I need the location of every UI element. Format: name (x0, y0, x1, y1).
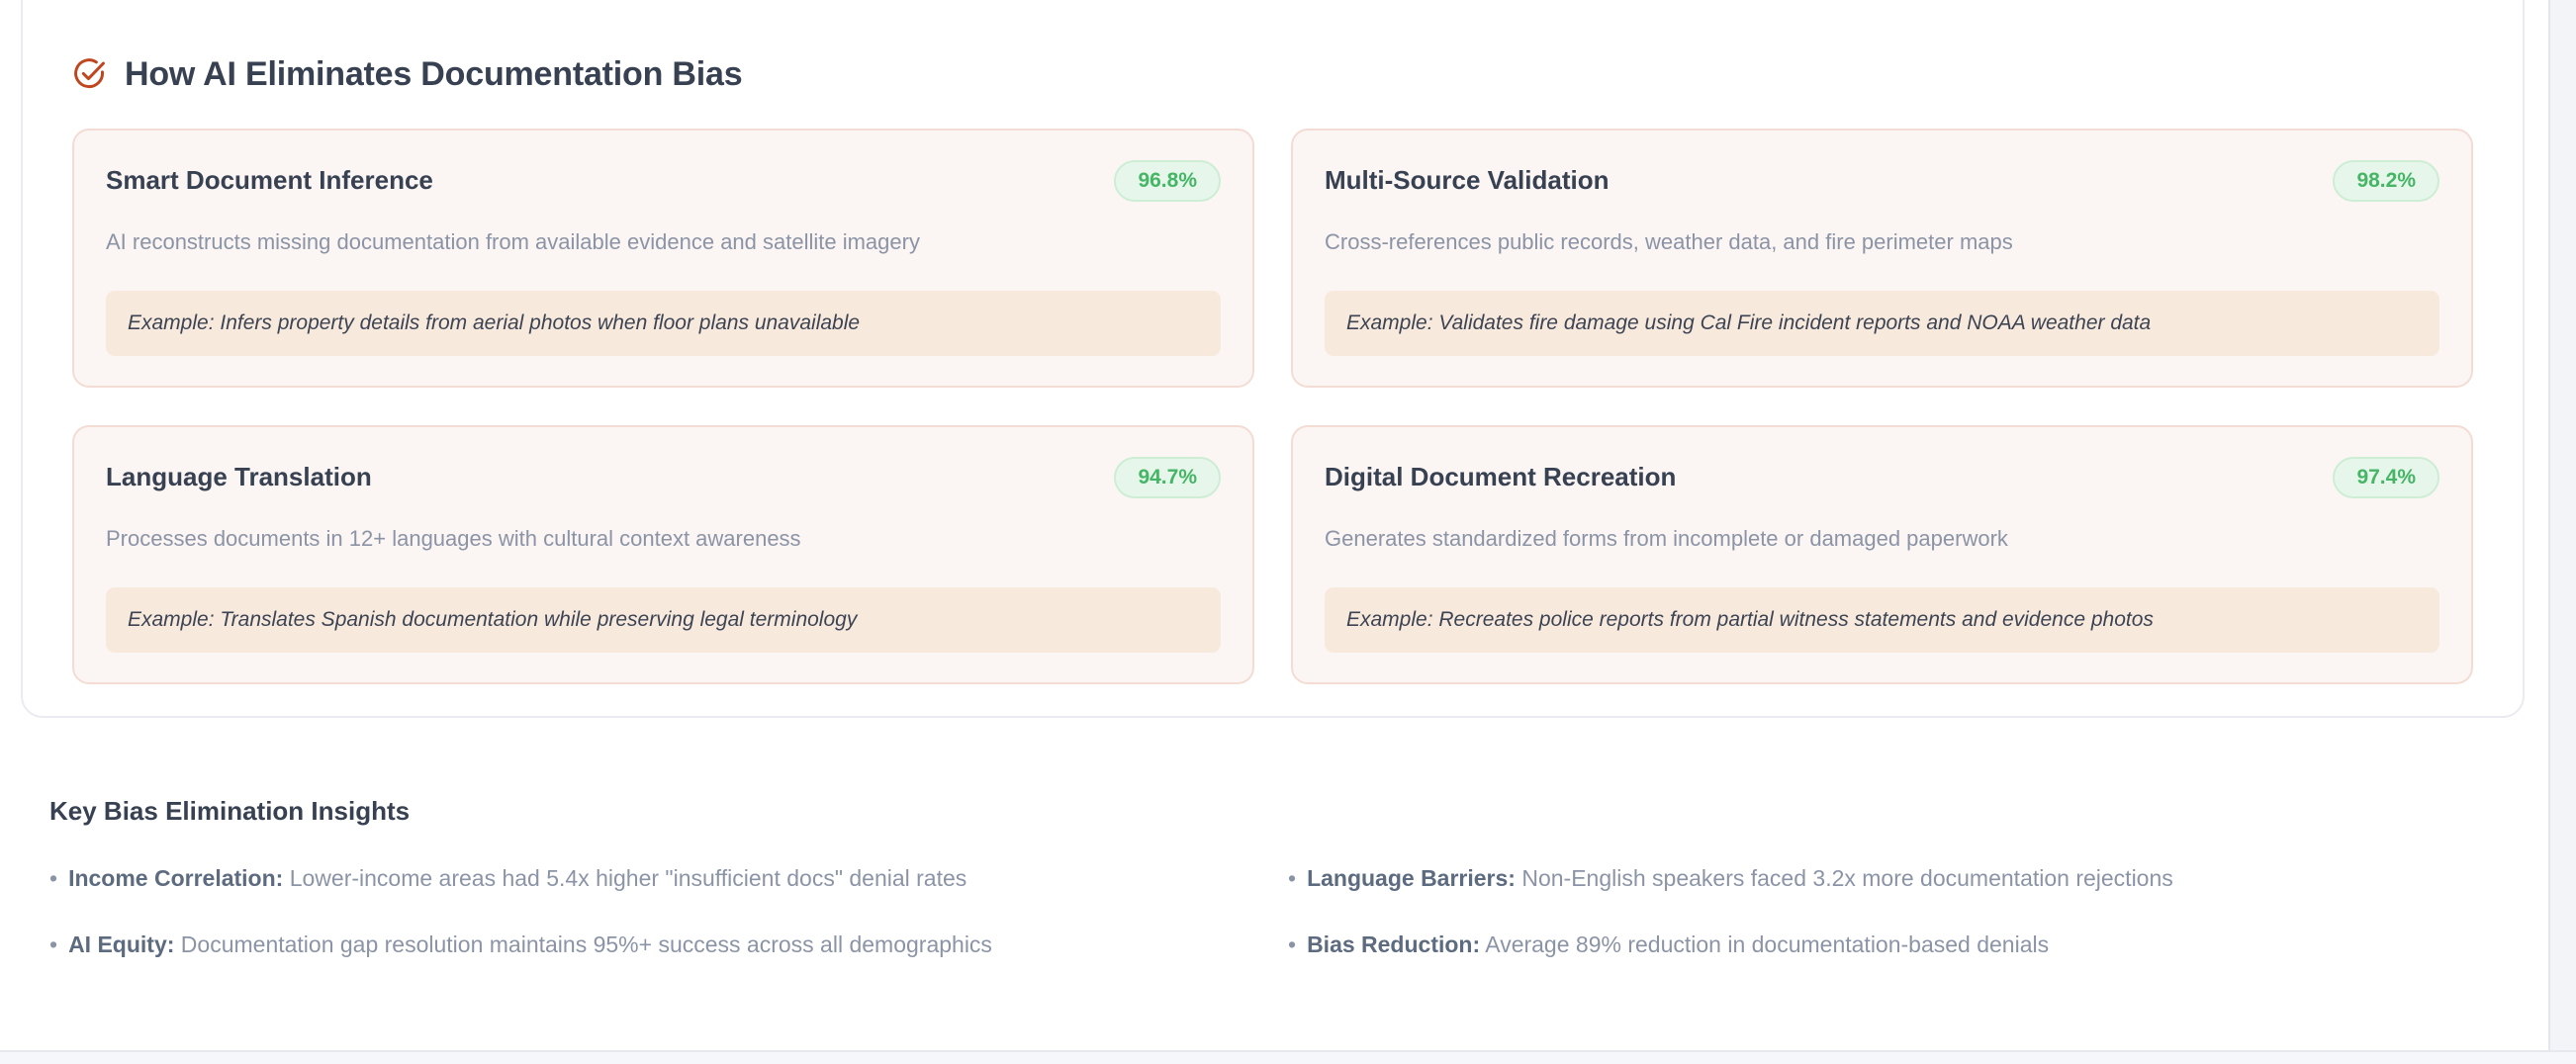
panel-header: How AI Eliminates Documentation Bias (72, 57, 2473, 91)
right-scroll-gutter[interactable] (2548, 0, 2576, 1064)
card-title: Language Translation (106, 462, 372, 492)
insight-label: Bias Reduction: (1307, 931, 1480, 957)
bullet-icon: • (1288, 867, 1296, 890)
insights-title: Key Bias Elimination Insights (49, 796, 2493, 827)
card-description: Generates standardized forms from incomp… (1325, 524, 2439, 554)
card-description: Cross-references public records, weather… (1325, 227, 2439, 257)
insight-item: • Income Correlation: Lower-income areas… (49, 864, 1254, 893)
accuracy-badge: 94.7% (1114, 457, 1221, 498)
capability-card[interactable]: Digital Document Recreation 97.4% Genera… (1291, 425, 2473, 684)
card-example: Example: Recreates police reports from p… (1325, 587, 2439, 653)
card-header: Language Translation 94.7% (106, 457, 1221, 498)
card-header: Digital Document Recreation 97.4% (1325, 457, 2439, 498)
bullet-icon: • (49, 933, 57, 956)
capability-card-grid: Smart Document Inference 96.8% AI recons… (72, 129, 2473, 684)
insight-label: Income Correlation: (68, 865, 283, 891)
card-example: Example: Translates Spanish documentatio… (106, 587, 1221, 653)
capability-card[interactable]: Smart Document Inference 96.8% AI recons… (72, 129, 1254, 388)
insight-text: Lower-income areas had 5.4x higher "insu… (290, 865, 967, 891)
bias-elimination-panel: How AI Eliminates Documentation Bias Sma… (21, 0, 2525, 718)
content-area: How AI Eliminates Documentation Bias Sma… (0, 0, 2548, 1052)
accuracy-badge: 98.2% (2333, 160, 2439, 202)
card-example: Example: Validates fire damage using Cal… (1325, 291, 2439, 356)
insight-text: Average 89% reduction in documentation-b… (1485, 931, 2049, 957)
page-title: How AI Eliminates Documentation Bias (125, 57, 742, 91)
card-title: Smart Document Inference (106, 165, 433, 196)
card-description: AI reconstructs missing documentation fr… (106, 227, 1221, 257)
insight-text: Non-English speakers faced 3.2x more doc… (1521, 865, 2172, 891)
card-example: Example: Infers property details from ae… (106, 291, 1221, 356)
insight-item: • Bias Reduction: Average 89% reduction … (1288, 931, 2493, 959)
insights-grid: • Income Correlation: Lower-income areas… (49, 864, 2493, 959)
accuracy-badge: 96.8% (1114, 160, 1221, 202)
bullet-icon: • (49, 867, 57, 890)
capability-card[interactable]: Multi-Source Validation 98.2% Cross-refe… (1291, 129, 2473, 388)
insight-item: • Language Barriers: Non-English speaker… (1288, 864, 2493, 893)
bottom-strip (0, 1052, 2576, 1064)
insight-label: AI Equity: (68, 931, 174, 957)
check-circle-icon (72, 57, 106, 91)
card-header: Smart Document Inference 96.8% (106, 160, 1221, 202)
accuracy-badge: 97.4% (2333, 457, 2439, 498)
card-title: Digital Document Recreation (1325, 462, 1676, 492)
insight-item: • AI Equity: Documentation gap resolutio… (49, 931, 1254, 959)
card-description: Processes documents in 12+ languages wit… (106, 524, 1221, 554)
insight-label: Language Barriers: (1307, 865, 1516, 891)
page-root: How AI Eliminates Documentation Bias Sma… (0, 0, 2576, 1064)
card-title: Multi-Source Validation (1325, 165, 1609, 196)
capability-card[interactable]: Language Translation 94.7% Processes doc… (72, 425, 1254, 684)
bullet-icon: • (1288, 933, 1296, 956)
insight-text: Documentation gap resolution maintains 9… (181, 931, 992, 957)
card-header: Multi-Source Validation 98.2% (1325, 160, 2439, 202)
key-insights-section: Key Bias Elimination Insights • Income C… (49, 796, 2493, 959)
